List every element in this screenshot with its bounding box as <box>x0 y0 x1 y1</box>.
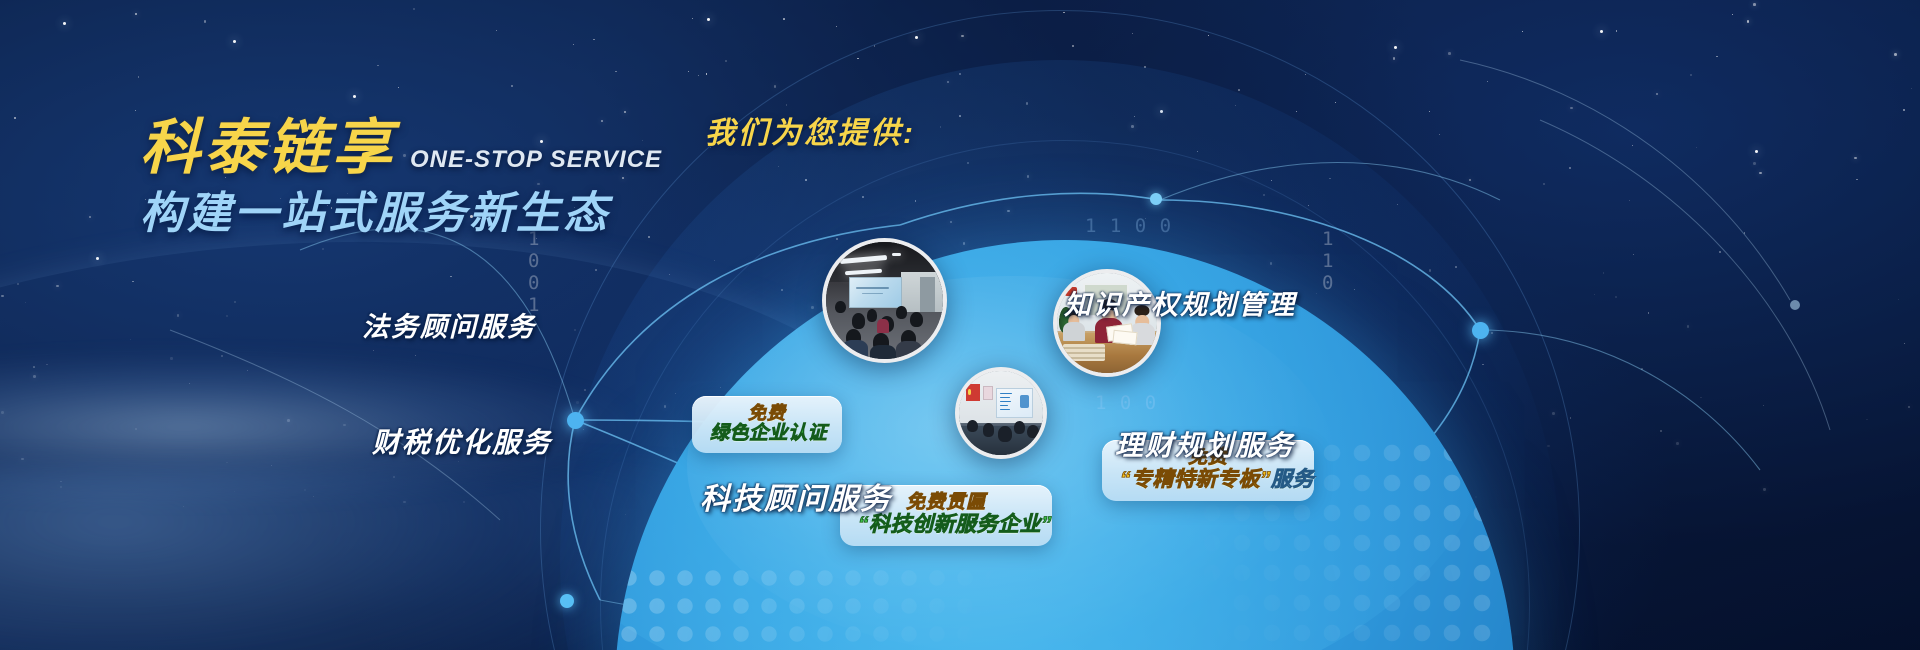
badge-line-1: 免费 <box>710 403 824 423</box>
badge-line-2: 绿色企业认证 <box>710 423 824 444</box>
service-label-legal-advisory[interactable]: 法务顾问服务 <box>362 305 536 344</box>
promotional-banner: 1 0 0 1 1 1 0 1 1 0 0 1 0 0 <box>0 0 1920 650</box>
badge-green-enterprise[interactable]: 免费 绿色企业认证 <box>692 396 842 453</box>
binary-decoration-dome-a: 1 1 0 0 <box>1085 215 1101 237</box>
headline-block: 科泰链享 ONE-STOP SERVICE 构建一站式服务新生态 <box>140 118 662 236</box>
badge-line-2: “专精特新专板”服务 <box>1120 468 1296 492</box>
network-node <box>560 594 574 608</box>
badge-quote-text: “专精特新专板” <box>1120 468 1271 491</box>
seminar-hall-photo[interactable] <box>822 238 947 363</box>
earth-glow <box>0 470 700 650</box>
english-tagline: ONE-STOP SERVICE <box>410 148 662 178</box>
binary-decoration-left: 1 0 0 1 <box>528 228 544 316</box>
page-subtitle: 构建一站式服务新生态 <box>140 192 662 236</box>
service-label-finance-tax[interactable]: 财税优化服务 <box>372 421 552 461</box>
service-label-wealth-planning[interactable]: 理财规划服务 <box>1115 424 1295 464</box>
network-node <box>567 412 584 429</box>
service-label-ip-planning[interactable]: 知识产权规划管理 <box>1064 283 1296 322</box>
provide-heading: 我们为您提供: <box>705 108 916 152</box>
page-title: 科泰链享 <box>140 118 396 178</box>
network-node <box>1150 193 1162 205</box>
service-label-tech-advisory[interactable]: 科技顾问服务 <box>700 474 892 518</box>
training-room-photo[interactable] <box>955 367 1047 459</box>
dome-dot-pattern-left <box>615 564 1029 650</box>
network-node <box>1790 300 1800 310</box>
badge-tail-text: 服务 <box>1271 468 1314 491</box>
